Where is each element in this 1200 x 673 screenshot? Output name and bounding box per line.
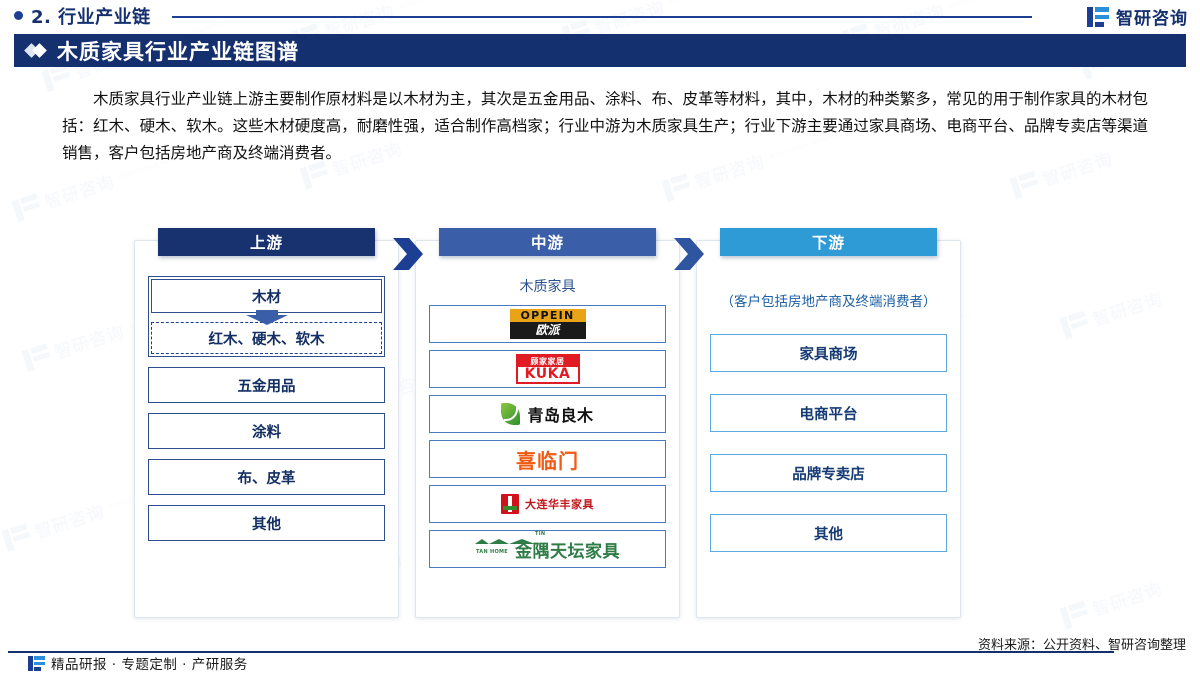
watermark-logo-icon — [11, 193, 43, 222]
dalian-huafeng-logo-text: 大连华丰家具 — [525, 496, 594, 512]
zhiyan-footer-logo-icon — [28, 656, 45, 671]
top-bar: 2. 行业产业链 智研咨询 — [0, 0, 1200, 32]
downstream-item-brand-store: 品牌专卖店 — [710, 454, 947, 492]
column-body-midstream: 木质家具 OPPEIN 欧派 顾家家居 KUKA — [415, 240, 680, 618]
company-row-oppein: OPPEIN 欧派 — [429, 305, 666, 343]
chevron-right-icon-1 — [391, 236, 425, 272]
lead-paragraph: 木质家具行业产业链上游主要制作原材料是以木材为主，其次是五金用品、涂料、布、皮革… — [62, 86, 1148, 167]
value-chain-diagram: 上游 木材 红木、硬木、软木 五金用品 涂料 布、皮革 其他 — [126, 228, 1076, 618]
header-divider — [172, 16, 1032, 18]
oppein-logo-cn: 欧派 — [510, 322, 586, 339]
watermark-logo-icon — [1, 523, 33, 552]
jinyu-tiantan-logo-text: 金隅天坛家具 — [515, 537, 620, 562]
downstream-item-other: 其他 — [710, 514, 947, 552]
downstream-note: （客户包括房地产商及终端消费者） — [710, 290, 947, 310]
watermark-text: 智研咨询 — [1089, 575, 1165, 621]
zhiyan-logo-icon — [1087, 7, 1109, 27]
oppein-logo-icon: OPPEIN 欧派 — [510, 309, 586, 339]
upstream-item-hardware: 五金用品 — [148, 367, 385, 403]
kuka-logo-icon: 顾家家居 KUKA — [516, 354, 580, 384]
chevron-right-icon-2 — [672, 236, 706, 272]
section-title: 2. 行业产业链 — [31, 3, 151, 29]
kuka-logo-latin: KUKA — [518, 367, 578, 382]
column-header-midstream: 中游 — [439, 228, 656, 256]
bullet-icon — [14, 11, 23, 20]
downstream-item-ecommerce: 电商平台 — [710, 394, 947, 432]
down-arrow-icon — [149, 310, 384, 324]
watermark-text: 智研咨询 — [1089, 285, 1165, 331]
watermark-text: 智研咨询 — [41, 167, 117, 213]
watermark-text: 智研咨询 — [51, 317, 127, 363]
midstream-sublabel: 木质家具 — [429, 276, 666, 296]
column-body-downstream: （客户包括房地产商及终端消费者） 家具商场 电商平台 品牌专卖店 其他 — [696, 240, 961, 618]
column-body-upstream: 木材 红木、硬木、软木 五金用品 涂料 布、皮革 其他 — [134, 240, 399, 618]
jinyu-tiantan-logo-sub: 天坛家具 — [483, 567, 500, 568]
wood-box: 木材 — [151, 279, 382, 313]
wood-group: 木材 红木、硬木、软木 — [148, 276, 385, 357]
diamond-icon — [25, 44, 47, 58]
qingdao-liangmu-logo-icon: 青岛良木 — [501, 402, 593, 426]
watermark-text: 智研咨询 — [31, 497, 107, 543]
oppein-logo-latin: OPPEIN — [510, 309, 586, 322]
company-row-kuka: 顾家家居 KUKA — [429, 350, 666, 388]
banner: 木质家具行业产业链图谱 — [14, 34, 1186, 67]
xilinmen-logo-icon: 喜临门 — [516, 445, 579, 474]
upstream-item-fabric-leather: 布、皮革 — [148, 459, 385, 495]
chain-column-upstream: 上游 木材 红木、硬木、软木 五金用品 涂料 布、皮革 其他 — [126, 228, 407, 618]
watermark-logo-icon — [21, 343, 53, 372]
pagoda-icon: TIN TAN HOME 天坛家具 — [475, 530, 509, 568]
downstream-item-furniture-mall: 家具商场 — [710, 334, 947, 372]
company-row-jinyu-tiantan: TIN TAN HOME 天坛家具 金隅天坛家具 — [429, 530, 666, 568]
company-row-xilinmen: 喜临门 — [429, 440, 666, 478]
chain-column-downstream: 下游 （客户包括房地产商及终端消费者） 家具商场 电商平台 品牌专卖店 其他 — [688, 228, 969, 618]
banner-title: 木质家具行业产业链图谱 — [57, 36, 299, 66]
dalian-huafeng-logo-icon: 大连华丰家具 — [501, 494, 594, 514]
qingdao-liangmu-logo-text: 青岛良木 — [527, 402, 593, 426]
watermark-logo-icon — [661, 173, 693, 202]
company-row-dalian-huafeng: 大连华丰家具 — [429, 485, 666, 523]
upstream-item-coating: 涂料 — [148, 413, 385, 449]
jinyu-tiantan-logo-icon: TIN TAN HOME 天坛家具 金隅天坛家具 — [475, 530, 620, 568]
column-header-upstream: 上游 — [158, 228, 375, 256]
page-root: 智研咨询 INTELLIGENCE RESEARCH 智研咨询 INTELLIG… — [0, 0, 1200, 673]
brand-name: 智研咨询 — [1116, 4, 1188, 29]
huafeng-mark-icon — [501, 494, 519, 514]
wood-types-box: 红木、硬木、软木 — [151, 322, 382, 354]
upstream-item-other: 其他 — [148, 505, 385, 541]
footer-services: 精品研报 · 专题定制 · 产研服务 — [51, 653, 248, 673]
leaf-icon — [501, 403, 520, 425]
brand: 智研咨询 — [1087, 4, 1188, 29]
company-row-qingdao-liangmu: 青岛良木 — [429, 395, 666, 433]
chain-column-midstream: 中游 木质家具 OPPEIN 欧派 顾家家居 KUKA — [407, 228, 688, 618]
watermark-logo-icon — [1009, 170, 1041, 199]
column-header-downstream: 下游 — [720, 228, 937, 256]
footer: 精品研报 · 专题定制 · 产研服务 — [28, 653, 248, 673]
